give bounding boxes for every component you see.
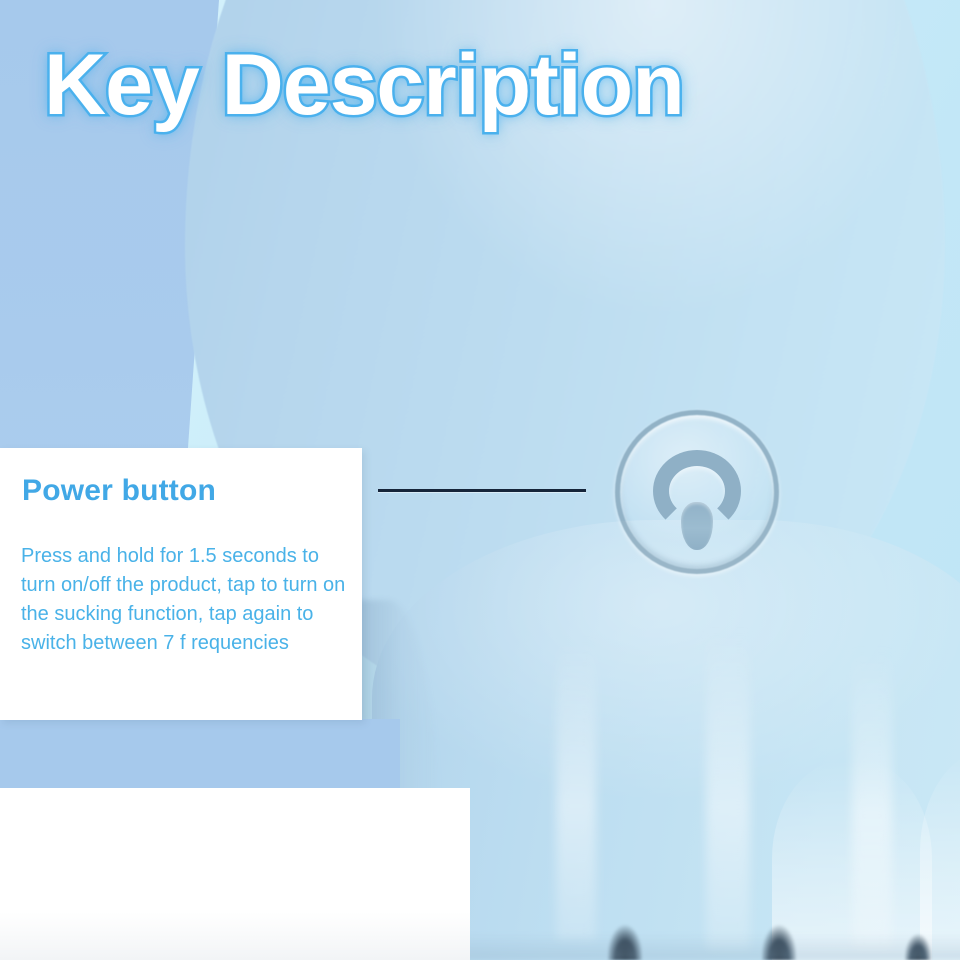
lower-white-strip [0, 788, 470, 960]
lower-blue-band [0, 719, 400, 789]
power-button-control[interactable] [615, 410, 779, 574]
callout-title: Power button [22, 474, 216, 508]
key-description-infographic: Power button Press and hold for 1.5 seco… [0, 0, 960, 960]
power-button-callout-card: Power button Press and hold for 1.5 seco… [0, 448, 362, 720]
product-tentacle [920, 750, 960, 960]
product-seam-highlight [556, 640, 596, 940]
leader-line [378, 489, 586, 492]
product-seam-highlight [706, 630, 750, 950]
page-title: Key Description [44, 42, 684, 128]
callout-description: Press and hold for 1.5 seconds to turn o… [21, 542, 353, 658]
product-seam-highlight [852, 650, 892, 950]
